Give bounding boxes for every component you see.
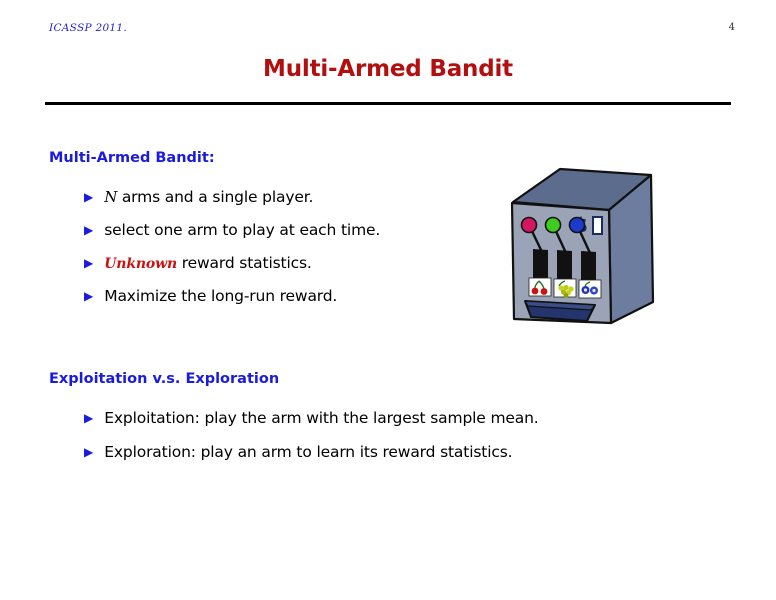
math-symbol-n: N bbox=[104, 188, 122, 206]
slide: ICASSP 2011. 4 Multi-Armed Bandit Multi-… bbox=[0, 0, 776, 600]
page-number: 4 bbox=[729, 22, 735, 33]
bullet-list-exploration: ▶ Exploitation: play the arm with the la… bbox=[84, 409, 539, 477]
lever-slot-2 bbox=[557, 250, 572, 279]
list-item: ▶ Unknown reward statistics. bbox=[84, 254, 380, 287]
lever-slot-3 bbox=[581, 251, 596, 280]
list-item-text: reward statistics. bbox=[182, 254, 312, 272]
title-divider bbox=[45, 102, 731, 105]
reel-window-cherries bbox=[529, 278, 551, 296]
list-item-text: Exploration: play an arm to learn its re… bbox=[104, 443, 512, 461]
list-item-text: Maximize the long-run reward. bbox=[104, 287, 337, 305]
bullet-list-bandit: ▶ N arms and a single player. ▶ select o… bbox=[84, 188, 380, 320]
list-item: ▶ Maximize the long-run reward. bbox=[84, 287, 380, 320]
list-item-label: N arms and a single player. bbox=[104, 188, 313, 206]
bullet-triangle-icon: ▶ bbox=[84, 412, 93, 424]
list-item: ▶ select one arm to play at each time. bbox=[84, 221, 380, 254]
list-item-text: arms and a single player. bbox=[122, 188, 314, 206]
list-item: ▶ N arms and a single player. bbox=[84, 188, 380, 221]
section-heading-exploration: Exploitation v.s. Exploration bbox=[49, 371, 279, 387]
list-item: ▶ Exploration: play an arm to learn its … bbox=[84, 443, 539, 477]
lever-knob-2 bbox=[546, 218, 561, 233]
list-item-label: Unknown reward statistics. bbox=[104, 254, 311, 272]
bullet-triangle-icon: ▶ bbox=[84, 257, 93, 269]
list-item-text: select one arm to play at each time. bbox=[104, 221, 380, 239]
lever-slot-1 bbox=[533, 249, 548, 278]
list-item: ▶ Exploitation: play the arm with the la… bbox=[84, 409, 539, 443]
emphasis-unknown: Unknown bbox=[104, 256, 182, 272]
lever-knob-3 bbox=[570, 218, 585, 233]
list-item-label: Maximize the long-run reward. bbox=[104, 287, 337, 305]
bullet-triangle-icon: ▶ bbox=[84, 191, 93, 203]
list-item-text: Exploitation: play the arm with the larg… bbox=[104, 409, 538, 427]
section-heading-bandit: Multi-Armed Bandit: bbox=[49, 150, 215, 166]
conference-label: ICASSP 2011. bbox=[49, 22, 127, 34]
bullet-triangle-icon: ▶ bbox=[84, 224, 93, 236]
lever-knob-1 bbox=[522, 218, 537, 233]
coin-slot bbox=[593, 217, 602, 234]
bullet-triangle-icon: ▶ bbox=[84, 446, 93, 458]
bullet-triangle-icon: ▶ bbox=[84, 290, 93, 302]
slot-machine-illustration: $ bbox=[503, 163, 658, 338]
page-title: Multi-Armed Bandit bbox=[0, 56, 776, 82]
list-item-label: select one arm to play at each time. bbox=[104, 221, 380, 239]
